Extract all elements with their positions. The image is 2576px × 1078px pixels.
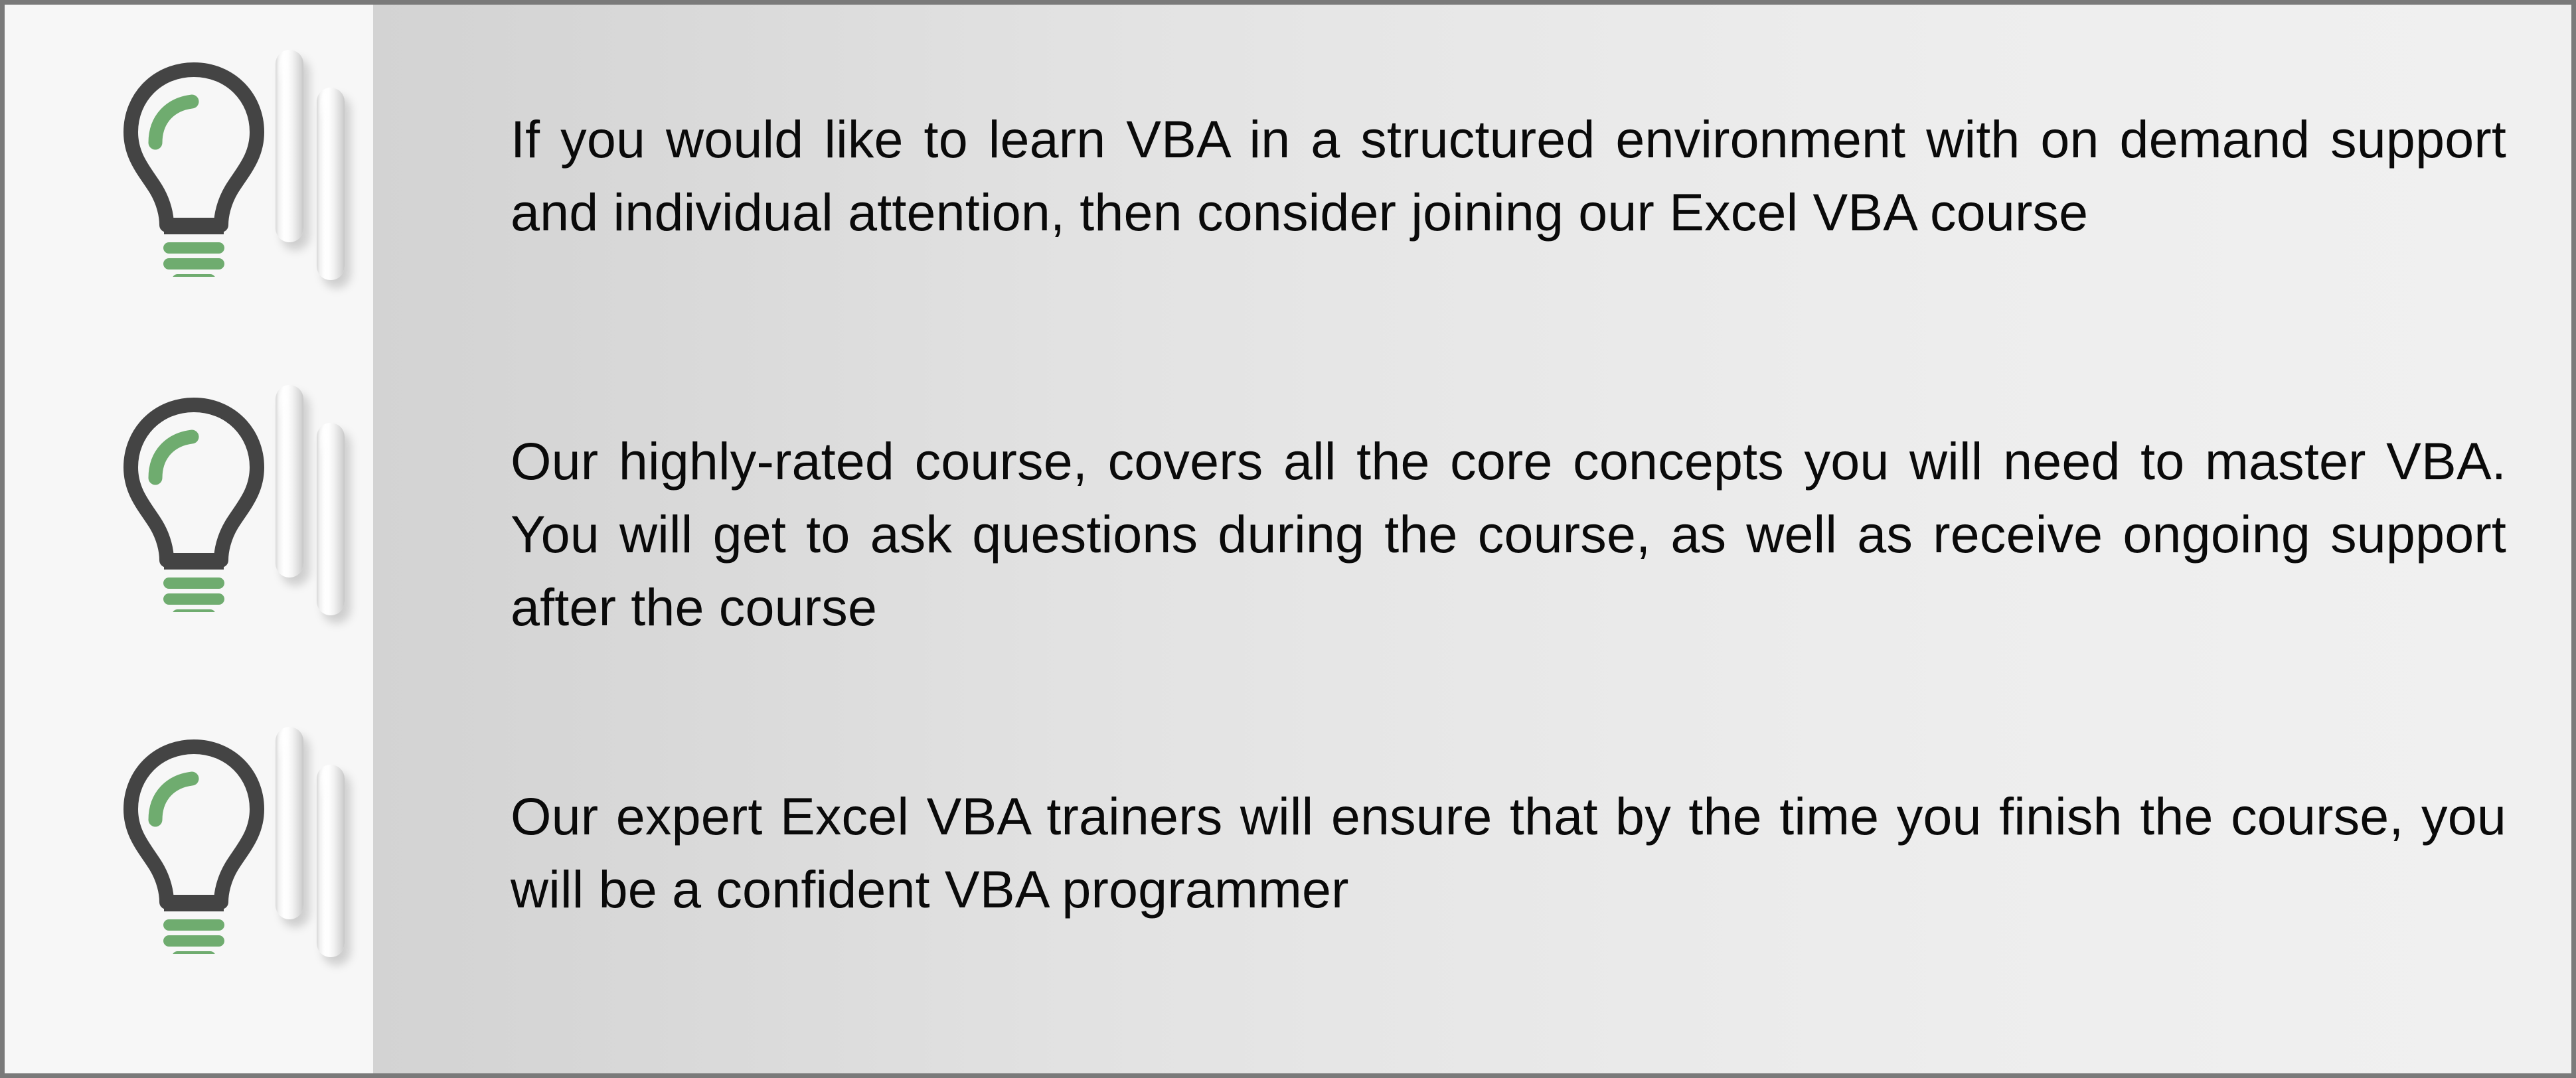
lightbulb-icon — [118, 735, 270, 954]
callout-text: If you would like to learn VBA in a stru… — [511, 103, 2506, 249]
callout-row: Our highly-rated course, covers all the … — [5, 360, 2571, 692]
callout-rows: If you would like to learn VBA in a stru… — [5, 5, 2571, 1073]
callout-text: Our highly-rated course, covers all the … — [511, 425, 2506, 644]
glossy-bar-short-icon — [317, 423, 345, 615]
callout-panel: If you would like to learn VBA in a stru… — [0, 0, 2576, 1078]
lightbulb-icon — [118, 393, 270, 612]
glossy-bar-tall-icon — [276, 385, 303, 577]
icon-cell — [118, 373, 343, 639]
callout-text: Our expert Excel VBA trainers will ensur… — [511, 780, 2506, 926]
glossy-bar-tall-icon — [276, 727, 303, 919]
glossy-bar-short-icon — [317, 88, 345, 280]
icon-cell — [118, 38, 343, 303]
lightbulb-icon — [118, 58, 270, 277]
callout-row: If you would like to learn VBA in a stru… — [5, 25, 2571, 356]
glossy-bar-tall-icon — [276, 50, 303, 242]
icon-cell — [118, 715, 343, 980]
callout-row: Our expert Excel VBA trainers will ensur… — [5, 702, 2571, 1034]
glossy-bar-short-icon — [317, 765, 345, 957]
